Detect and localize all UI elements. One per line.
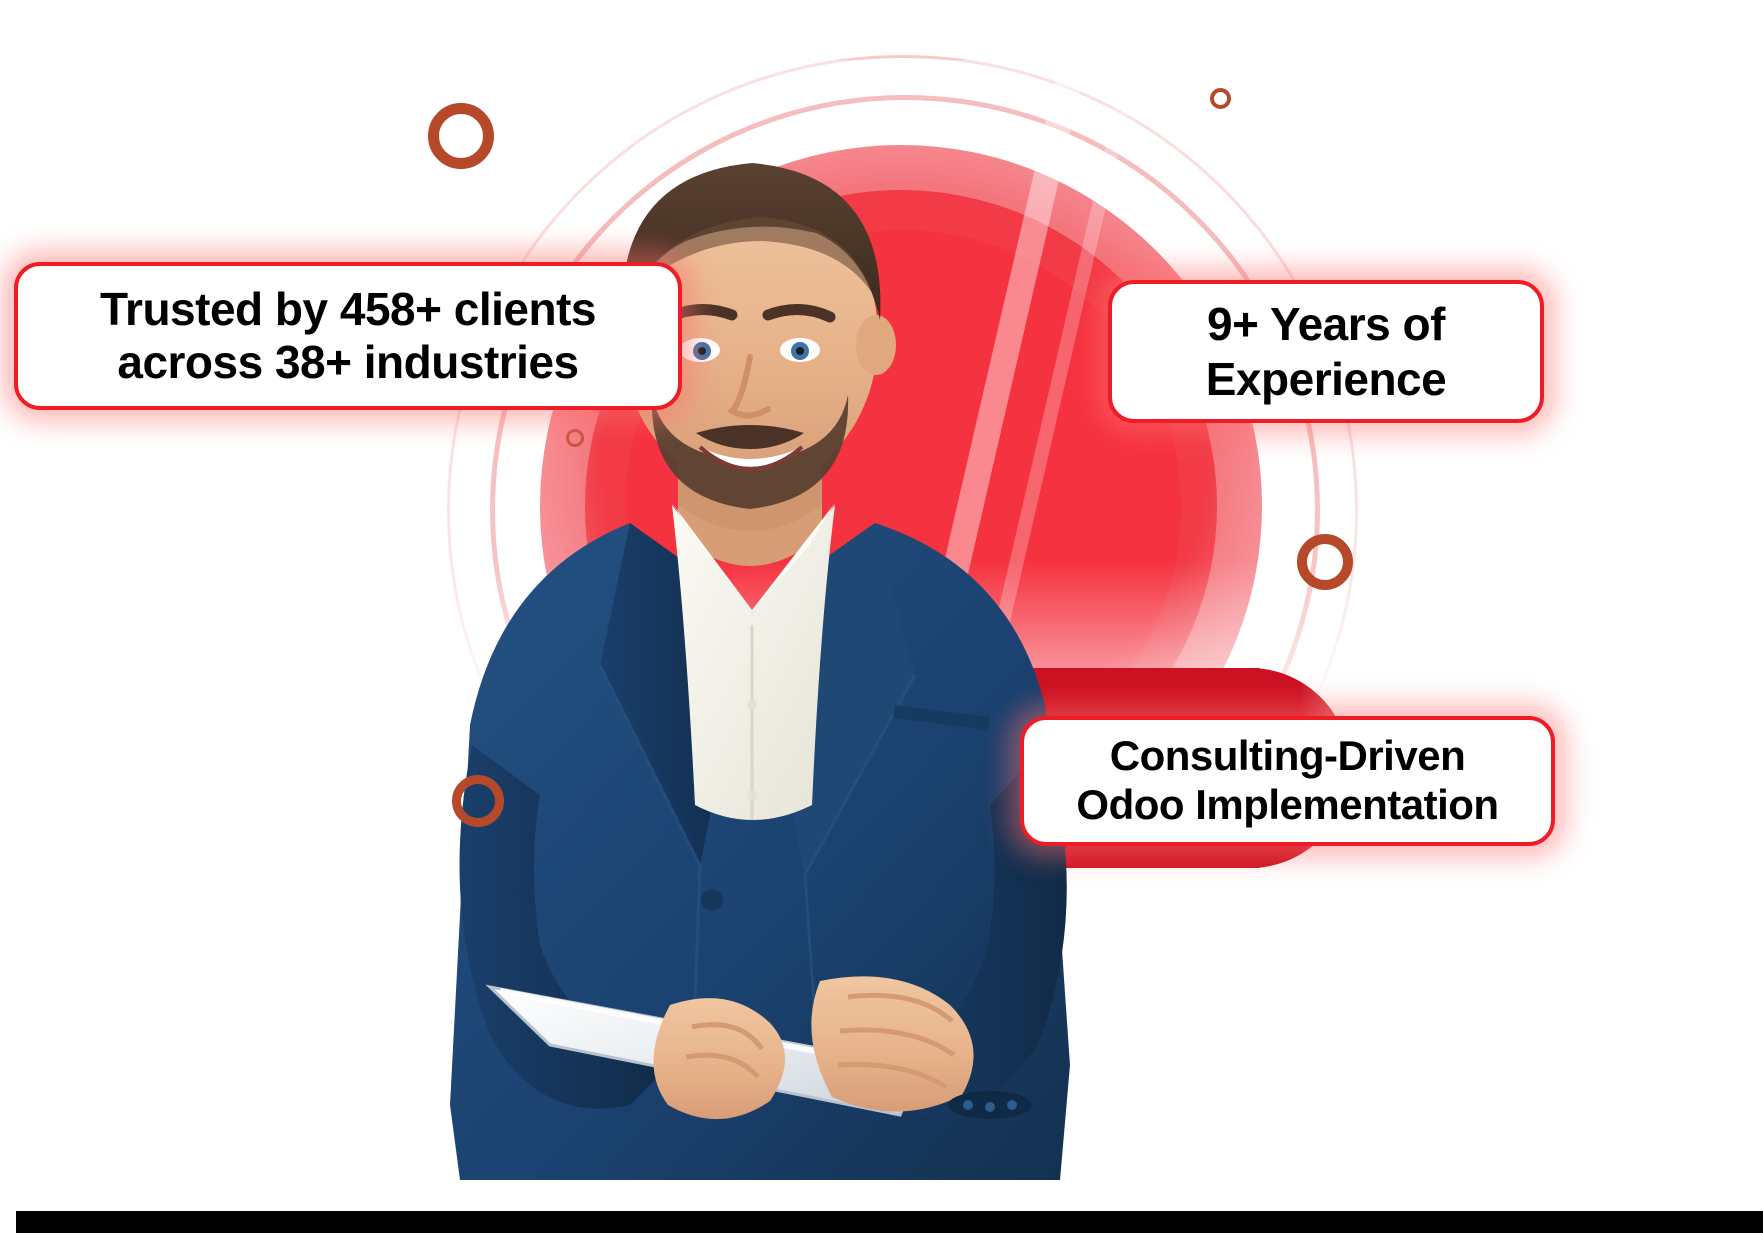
bottom-black-bar xyxy=(16,1211,1763,1233)
decorative-ring-icon-top-left xyxy=(428,103,494,169)
stat-card-experience-line1: 9+ Years of xyxy=(1206,297,1446,351)
stat-card-clients[interactable]: Trusted by 458+ clients across 38+ indus… xyxy=(14,262,682,410)
stat-card-experience-line2: Experience xyxy=(1206,352,1446,406)
stat-card-consulting[interactable]: Consulting-Driven Odoo Implementation xyxy=(1020,716,1555,846)
hero-banner: Trusted by 458+ clients across 38+ indus… xyxy=(0,0,1763,1233)
decorative-ring-icon-bottom-left xyxy=(452,775,504,827)
stat-card-experience[interactable]: 9+ Years of Experience xyxy=(1108,280,1544,423)
stat-card-consulting-line1: Consulting-Driven xyxy=(1076,732,1498,781)
decorative-ring-icon-right xyxy=(1297,534,1353,590)
stat-card-clients-line1: Trusted by 458+ clients xyxy=(100,283,596,336)
stat-card-consulting-line2: Odoo Implementation xyxy=(1076,781,1498,830)
decorative-ring-icon-top-right xyxy=(1210,88,1231,109)
stat-card-clients-line2: across 38+ industries xyxy=(100,336,596,389)
decorative-ring-icon-center xyxy=(566,429,584,447)
